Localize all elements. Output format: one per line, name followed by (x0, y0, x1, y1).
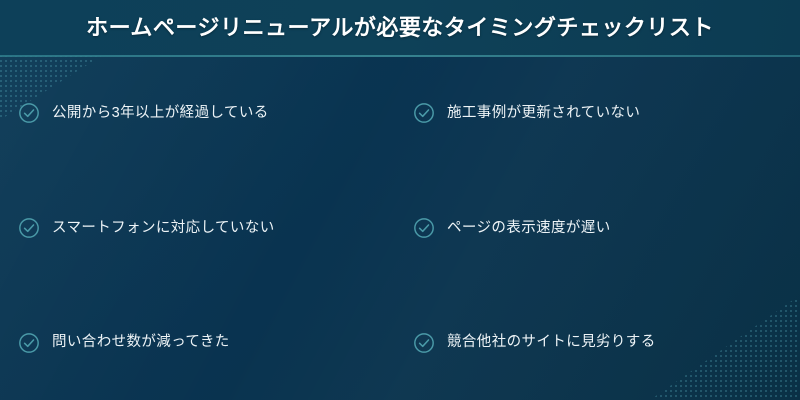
check-circle-icon (413, 102, 435, 124)
checklist-item-2: 施工事例が更新されていない (400, 102, 800, 124)
checklist-item-4: ページの表示速度が遅い (400, 217, 800, 239)
checklist-item-5: 問い合わせ数が減ってきた (0, 332, 400, 354)
checklist-item-label: スマートフォンに対応していない (52, 219, 275, 238)
checklist-item-label: 競合他社のサイトに見劣りする (447, 333, 656, 352)
check-circle-icon (18, 332, 40, 354)
check-circle-icon (413, 332, 435, 354)
checklist-item-label: 公開から3年以上が経過している (52, 104, 269, 123)
slide-root: ホームページリニューアルが必要なタイミングチェックリスト 公開から3年以上が経過… (0, 0, 800, 400)
checklist-item-1: 公開から3年以上が経過している (0, 102, 400, 124)
check-circle-icon (413, 217, 435, 239)
header-bar: ホームページリニューアルが必要なタイミングチェックリスト (0, 0, 800, 56)
header-divider (0, 55, 800, 57)
checklist-item-label: 施工事例が更新されていない (447, 104, 640, 123)
checklist-grid: 公開から3年以上が経過している 施工事例が更新されていない スマートフォンに対応… (0, 56, 800, 400)
checklist-item-label: 問い合わせ数が減ってきた (52, 333, 230, 352)
check-circle-icon (18, 217, 40, 239)
checklist-item-3: スマートフォンに対応していない (0, 217, 400, 239)
page-title: ホームページリニューアルが必要なタイミングチェックリスト (86, 17, 714, 39)
checklist-item-label: ページの表示速度が遅い (447, 219, 611, 238)
checklist-item-6: 競合他社のサイトに見劣りする (400, 332, 800, 354)
check-circle-icon (18, 102, 40, 124)
